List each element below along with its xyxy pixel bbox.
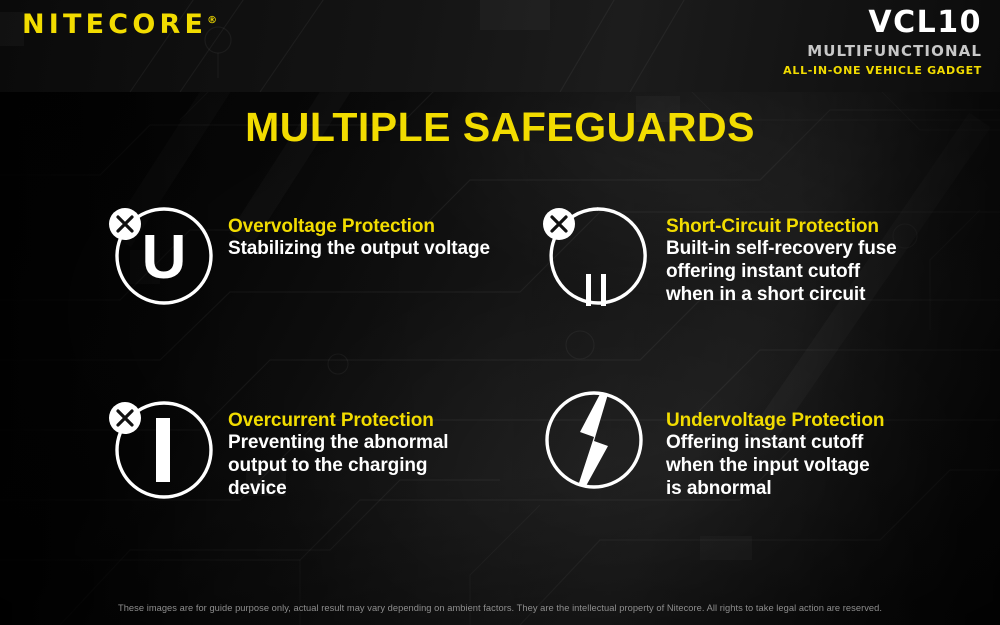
product-tagline: ALL-IN-ONE VEHICLE GADGET: [783, 65, 982, 76]
feature-short-circuit-text: Short-Circuit Protection Built-in self-r…: [666, 198, 897, 306]
nitecore-logo-text: NITECORE: [22, 9, 207, 40]
feature-description: Offering instant cutoff when the input v…: [666, 432, 884, 500]
feature-undervoltage: Undervoltage Protection Offering instant…: [538, 384, 884, 500]
feature-title: Undervoltage Protection: [666, 410, 884, 432]
features-grid: U Overvoltage Protection Stabilizing the…: [0, 196, 1000, 536]
svg-text:U: U: [142, 223, 187, 292]
product-branding: VCL10 MULTIFUNCTIONAL ALL-IN-ONE VEHICLE…: [783, 8, 982, 76]
feature-description: Preventing the abnormal output to the ch…: [228, 432, 448, 500]
product-slide: NITECORE® VCL10 MULTIFUNCTIONAL ALL-IN-O…: [0, 0, 1000, 625]
product-subtitle: MULTIFUNCTIONAL: [783, 44, 982, 59]
overcurrent-icon: [104, 392, 216, 504]
feature-overcurrent: Overcurrent Protection Preventing the ab…: [104, 392, 448, 504]
feature-title: Short-Circuit Protection: [666, 216, 897, 238]
feature-title: Overcurrent Protection: [228, 410, 448, 432]
feature-overvoltage-text: Overvoltage Protection Stabilizing the o…: [228, 198, 490, 261]
overvoltage-icon: U: [104, 198, 216, 310]
feature-overvoltage: U Overvoltage Protection Stabilizing the…: [104, 198, 490, 310]
nitecore-logo: NITECORE®: [22, 11, 217, 38]
feature-overcurrent-text: Overcurrent Protection Preventing the ab…: [228, 392, 448, 500]
page-title: MULTIPLE SAFEGUARDS: [0, 104, 1000, 151]
feature-title: Overvoltage Protection: [228, 216, 490, 238]
feature-short-circuit: Short-Circuit Protection Built-in self-r…: [538, 198, 897, 310]
product-name: VCL10: [783, 8, 982, 38]
short-circuit-icon: [538, 198, 650, 310]
undervoltage-icon: [538, 384, 650, 496]
feature-description: Stabilizing the output voltage: [228, 238, 490, 261]
footer-disclaimer: These images are for guide purpose only,…: [0, 603, 1000, 613]
feature-description: Built-in self-recovery fuse offering ins…: [666, 238, 897, 306]
feature-undervoltage-text: Undervoltage Protection Offering instant…: [666, 384, 884, 500]
header-band: NITECORE® VCL10 MULTIFUNCTIONAL ALL-IN-O…: [0, 0, 1000, 92]
registered-mark: ®: [207, 15, 217, 26]
